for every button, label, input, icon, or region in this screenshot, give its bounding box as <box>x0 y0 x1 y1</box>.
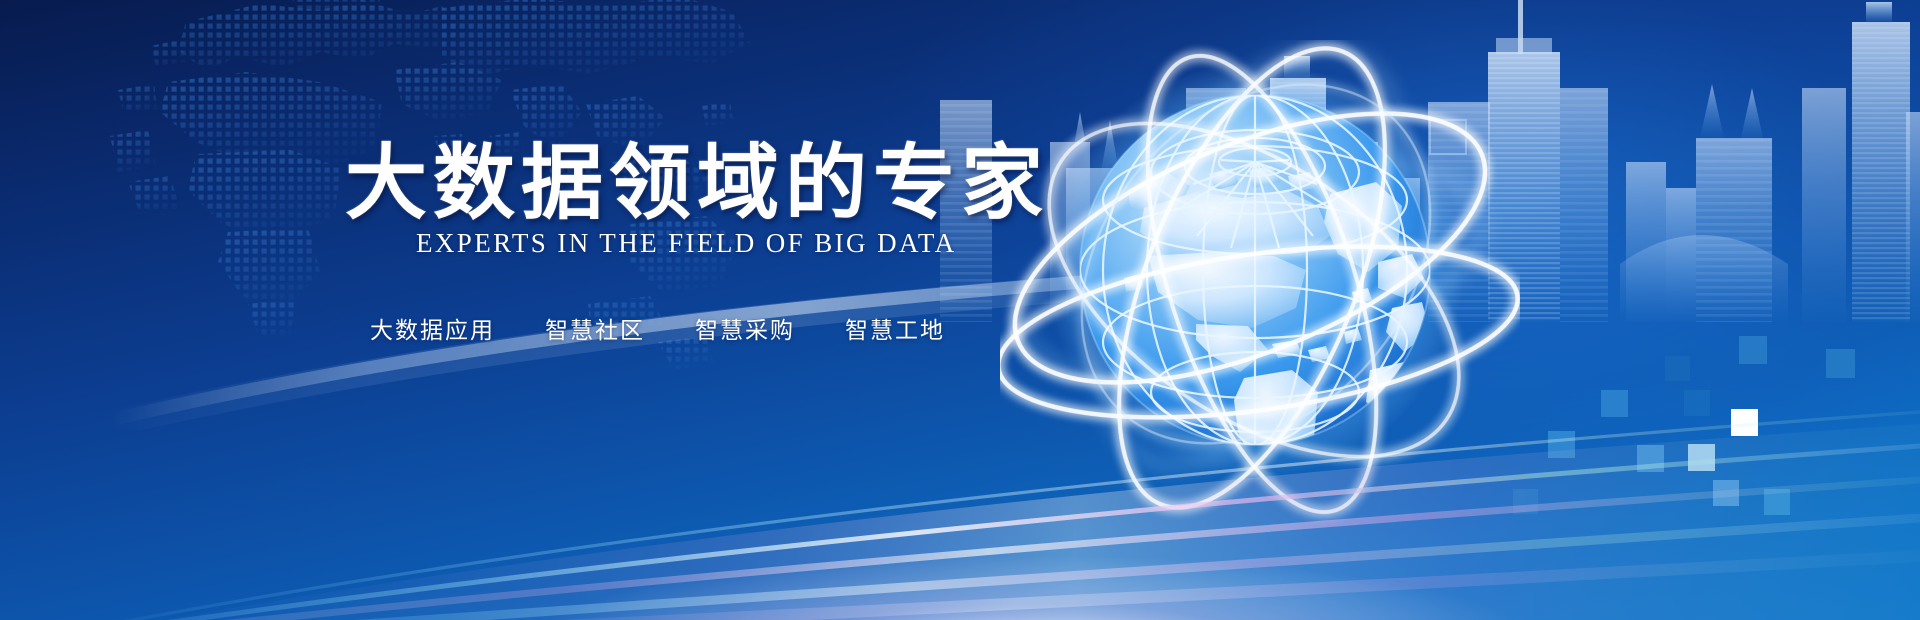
decorative-square <box>1637 445 1664 472</box>
decorative-square <box>1688 444 1715 471</box>
decorative-square <box>1513 489 1538 514</box>
decorative-square <box>1665 356 1690 381</box>
decorative-square <box>1739 336 1767 364</box>
banner-content: 大数据领域的专家 EXPERTS IN THE FIELD OF BIG DAT… <box>0 0 1100 620</box>
page-subtitle: EXPERTS IN THE FIELD OF BIG DATA <box>416 228 957 259</box>
keyword-item[interactable]: 大数据应用 <box>370 311 495 345</box>
decorative-square <box>1548 431 1575 458</box>
keyword-item[interactable]: 智慧社区 <box>545 311 645 345</box>
keyword-list: 大数据应用智慧社区智慧采购智慧工地 <box>370 311 945 345</box>
page-title: 大数据领域的专家 <box>345 143 1049 225</box>
decorative-square <box>1713 480 1739 506</box>
keyword-item[interactable]: 智慧工地 <box>845 311 945 345</box>
banner-root: 大数据领域的专家 EXPERTS IN THE FIELD OF BIG DAT… <box>0 0 1920 620</box>
decorative-square <box>1826 349 1855 378</box>
decorative-square <box>1601 390 1628 417</box>
decorative-square <box>1684 390 1710 416</box>
decorative-square <box>1764 489 1790 515</box>
keyword-item[interactable]: 智慧采购 <box>695 311 795 345</box>
decorative-square <box>1731 409 1758 436</box>
